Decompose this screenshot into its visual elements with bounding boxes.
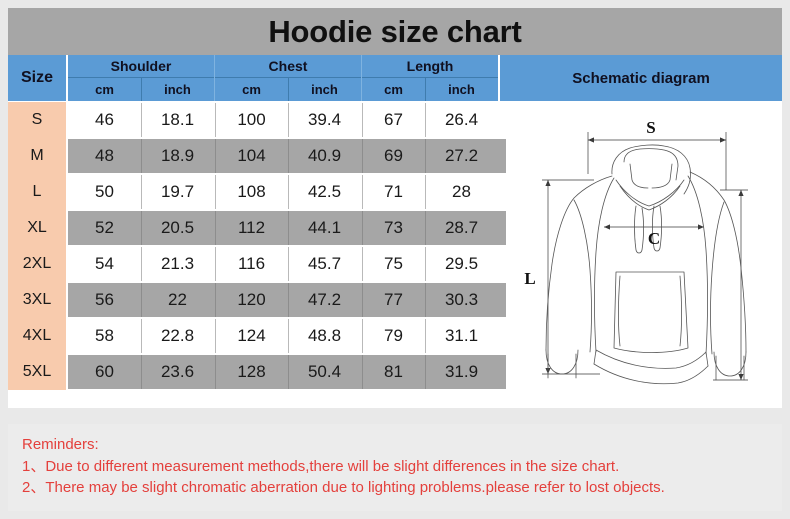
cell-shoulder-inch: 19.7 xyxy=(141,175,214,209)
cell-chest-cm: 112 xyxy=(215,211,288,245)
cell-shoulder-inch: 21.3 xyxy=(141,247,214,281)
cell-shoulder-cm: 56 xyxy=(68,283,141,317)
cell-length-inch: 28 xyxy=(425,175,498,209)
cell-chest-inch: 40.9 xyxy=(288,139,361,173)
cell-chest-inch: 47.2 xyxy=(288,283,361,317)
header-unit-chest-inch: inch xyxy=(288,78,361,101)
reminder-item-2: 2、There may be slight chromatic aberrati… xyxy=(22,477,782,498)
cell-length-inch: 31.1 xyxy=(425,319,498,353)
cell-shoulder-inch: 18.1 xyxy=(141,103,214,137)
reminders-heading: Reminders: xyxy=(22,434,782,455)
header-unit-chest-cm: cm xyxy=(215,78,288,101)
cell-chest-cm: 100 xyxy=(215,103,288,137)
header-unit-length-inch: inch xyxy=(425,78,498,101)
svg-text:S: S xyxy=(646,118,655,137)
cell-length-cm: 81 xyxy=(362,355,425,389)
row-values: 4818.910440.96927.2 xyxy=(68,139,506,173)
header-group-shoulder: Shoulder xyxy=(68,55,214,77)
row-values: 562212047.27730.3 xyxy=(68,283,506,317)
cell-shoulder-cm: 48 xyxy=(68,139,141,173)
cell-shoulder-inch: 20.5 xyxy=(141,211,214,245)
svg-text:L: L xyxy=(524,269,535,288)
header-group-length: Length xyxy=(362,55,498,77)
cell-length-cm: 67 xyxy=(362,103,425,137)
table-row: L5019.710842.57128 xyxy=(8,174,506,210)
cell-length-cm: 79 xyxy=(362,319,425,353)
svg-text:C: C xyxy=(648,229,660,248)
header-group-chest: Chest xyxy=(215,55,361,77)
table-row: XL5220.511244.17328.7 xyxy=(8,210,506,246)
size-label-4xl: 4XL xyxy=(8,318,66,354)
header-vline xyxy=(288,77,289,101)
size-label-3xl: 3XL xyxy=(8,282,66,318)
row-values: 5220.511244.17328.7 xyxy=(68,211,506,245)
table-row: S4618.110039.46726.4 xyxy=(8,102,506,138)
size-label-s: S xyxy=(8,102,66,138)
size-label-5xl: 5XL xyxy=(8,354,66,390)
reminders-panel: Reminders: 1、Due to different measuremen… xyxy=(8,424,782,511)
cell-shoulder-cm: 60 xyxy=(68,355,141,389)
cell-chest-inch: 50.4 xyxy=(288,355,361,389)
cell-shoulder-cm: 58 xyxy=(68,319,141,353)
cell-chest-inch: 48.8 xyxy=(288,319,361,353)
cell-chest-cm: 120 xyxy=(215,283,288,317)
size-table: S4618.110039.46726.4M4818.910440.96927.2… xyxy=(8,102,506,390)
table-row: 5XL6023.612850.48131.9 xyxy=(8,354,506,390)
cell-length-inch: 27.2 xyxy=(425,139,498,173)
row-values: 6023.612850.48131.9 xyxy=(68,355,506,389)
title-band: Hoodie size chart xyxy=(8,8,782,55)
chart-card: Hoodie size chart Size Shoulder cm inch … xyxy=(8,8,782,408)
row-values: 5421.311645.77529.5 xyxy=(68,247,506,281)
header-measurement-groups: Shoulder cm inch Chest cm inch Length cm… xyxy=(68,55,498,101)
cell-length-inch: 29.5 xyxy=(425,247,498,281)
cell-length-cm: 71 xyxy=(362,175,425,209)
size-label-l: L xyxy=(8,174,66,210)
size-label-xl: XL xyxy=(8,210,66,246)
size-chart-page: Hoodie size chart Size Shoulder cm inch … xyxy=(0,0,790,519)
row-values: 4618.110039.46726.4 xyxy=(68,103,506,137)
cell-shoulder-cm: 46 xyxy=(68,103,141,137)
cell-shoulder-inch: 23.6 xyxy=(141,355,214,389)
row-values: 5822.812448.87931.1 xyxy=(68,319,506,353)
table-row: 4XL5822.812448.87931.1 xyxy=(8,318,506,354)
cell-shoulder-inch: 22.8 xyxy=(141,319,214,353)
schematic-diagram: S C L xyxy=(508,102,782,402)
header-unit-shoulder-cm: cm xyxy=(68,78,141,101)
page-title: Hoodie size chart xyxy=(268,16,521,47)
header-vline xyxy=(425,77,426,101)
cell-length-cm: 69 xyxy=(362,139,425,173)
header-size-cell: Size xyxy=(8,55,66,101)
cell-shoulder-inch: 18.9 xyxy=(141,139,214,173)
header-unit-shoulder-inch: inch xyxy=(141,78,214,101)
table-row: 2XL5421.311645.77529.5 xyxy=(8,246,506,282)
cell-shoulder-inch: 22 xyxy=(141,283,214,317)
cell-shoulder-cm: 50 xyxy=(68,175,141,209)
cell-length-inch: 26.4 xyxy=(425,103,498,137)
size-label-m: M xyxy=(8,138,66,174)
cell-chest-cm: 124 xyxy=(215,319,288,353)
cell-chest-cm: 108 xyxy=(215,175,288,209)
cell-length-cm: 77 xyxy=(362,283,425,317)
cell-chest-inch: 39.4 xyxy=(288,103,361,137)
cell-length-inch: 30.3 xyxy=(425,283,498,317)
header-unit-length-cm: cm xyxy=(362,78,425,101)
table-row: M4818.910440.96927.2 xyxy=(8,138,506,174)
size-label-2xl: 2XL xyxy=(8,246,66,282)
row-values: 5019.710842.57128 xyxy=(68,175,506,209)
reminder-item-1: 1、Due to different measurement methods,t… xyxy=(22,456,782,477)
cell-length-cm: 73 xyxy=(362,211,425,245)
cell-length-inch: 31.9 xyxy=(425,355,498,389)
table-header: Size Shoulder cm inch Chest cm inch Leng… xyxy=(8,55,782,101)
table-row: 3XL562212047.27730.3 xyxy=(8,282,506,318)
cell-chest-inch: 45.7 xyxy=(288,247,361,281)
cell-length-cm: 75 xyxy=(362,247,425,281)
cell-shoulder-cm: 54 xyxy=(68,247,141,281)
header-vline xyxy=(141,77,142,101)
cell-shoulder-cm: 52 xyxy=(68,211,141,245)
cell-chest-cm: 128 xyxy=(215,355,288,389)
cell-chest-inch: 42.5 xyxy=(288,175,361,209)
cell-chest-inch: 44.1 xyxy=(288,211,361,245)
cell-length-inch: 28.7 xyxy=(425,211,498,245)
cell-chest-cm: 104 xyxy=(215,139,288,173)
cell-chest-cm: 116 xyxy=(215,247,288,281)
header-schematic-diagram: Schematic diagram xyxy=(500,55,782,101)
